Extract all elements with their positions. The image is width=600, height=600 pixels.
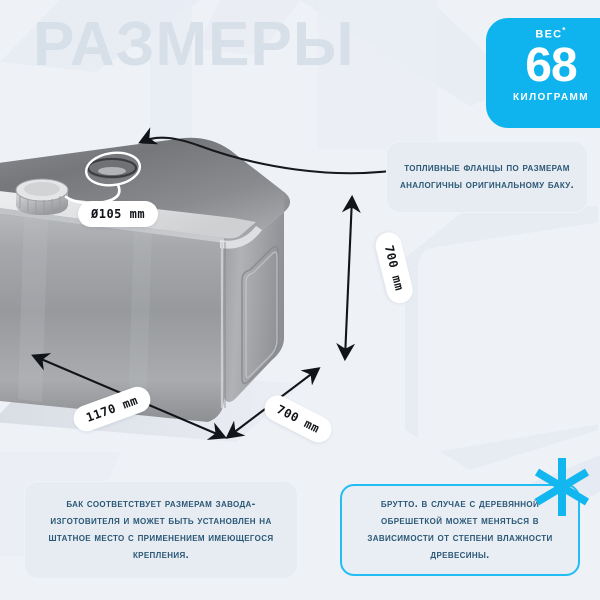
asterisk-icon [531,456,593,518]
callout-fuel-flange: Топливные фланцы по размерам аналогичны … [386,141,588,213]
weight-badge-unit: КИЛОГРАММ [486,92,600,103]
fuel-tank-illustration [0,130,404,460]
page-title: РАЗМЕРЫ [33,14,355,76]
weight-badge: ВЕС* 68 КИЛОГРАММ [486,18,600,128]
weight-badge-asterisk: * [562,26,566,35]
dimensions-infographic: РАЗМЕРЫ ВЕС* 68 КИЛОГРАММ [0,0,600,600]
weight-badge-value: 68 [486,43,600,89]
dimension-diameter: Ø105 mm [78,201,158,227]
callout-factory-dimensions: Бак соответствует размерам завода-изгото… [24,481,298,579]
